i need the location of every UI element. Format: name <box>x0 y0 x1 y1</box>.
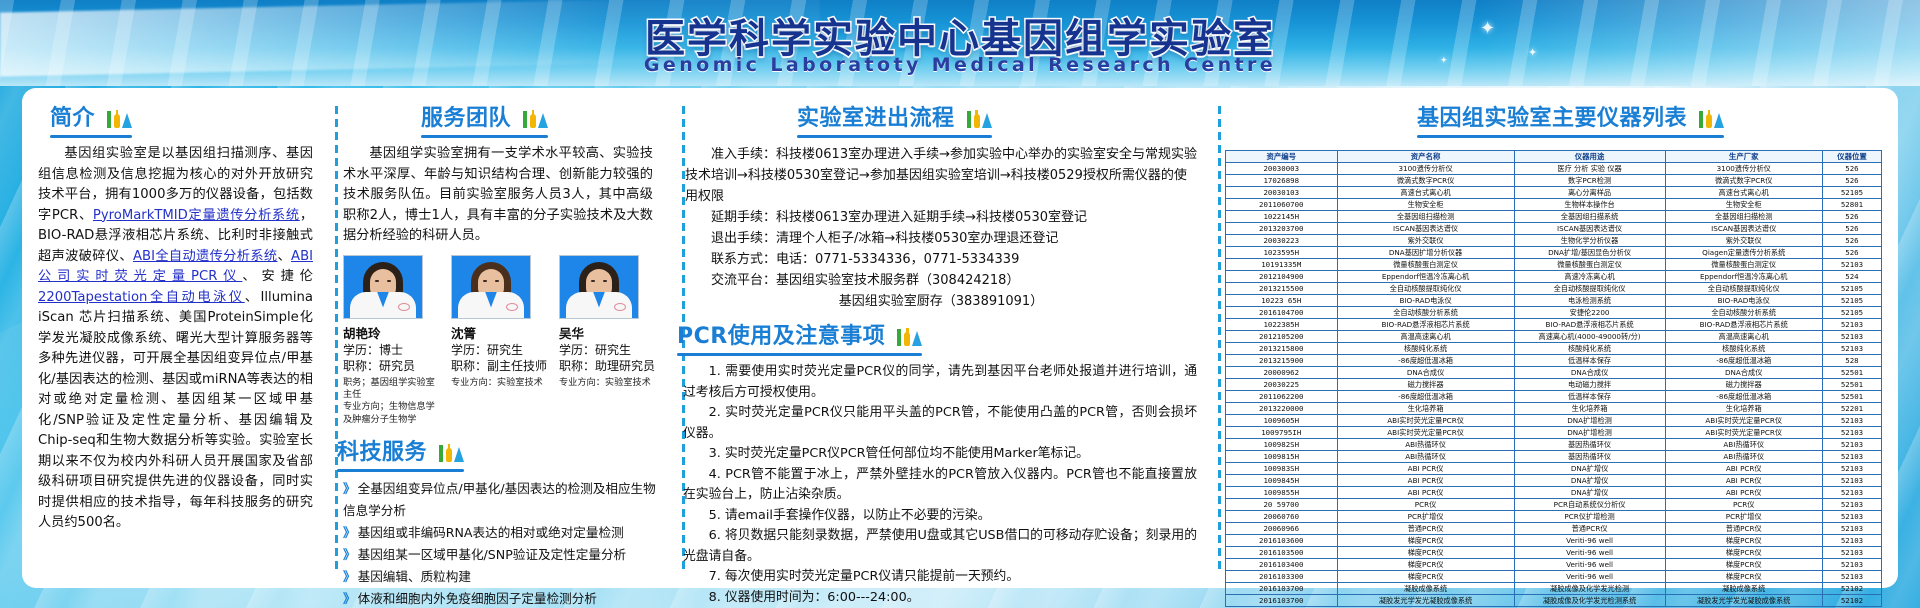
table-cell: -86度超低温冰箱 <box>1665 391 1822 403</box>
table-cell: 2016103500 <box>1226 547 1338 559</box>
table-cell: ABI PCR仪 <box>1337 463 1514 475</box>
chevron-right-icon: 》 <box>343 591 354 606</box>
table-cell: 52103 <box>1822 523 1881 535</box>
table-cell: 2012105200 <box>1226 331 1338 343</box>
avatar <box>343 255 423 319</box>
table-cell: DNA合成仪 <box>1665 367 1822 379</box>
table-cell: 52103 <box>1822 343 1881 355</box>
list-item: 1. 需要使用实时荧光定量PCR仪的同学，请先到基因平台老师处报道并进行培训，通… <box>683 362 1197 403</box>
table-cell: 微滴式数字PCR仪 <box>1665 175 1822 187</box>
table-cell: 核酸纯化系统 <box>1337 343 1514 355</box>
process-line: 退出手续：清理个人柜子/冰箱→科技楼0530室办理退还登记 <box>685 228 1197 249</box>
table-cell: 低温样本保存 <box>1514 355 1665 367</box>
table-cell: 梯度PCR仪 <box>1337 547 1514 559</box>
flask-chart-icon <box>966 108 992 128</box>
table-cell: 凝胶发光学发光凝胶成像系统 <box>1337 595 1514 607</box>
table-row: 100983SHABI PCR仪DNA扩增仪ABI PCR仪52103 <box>1226 463 1882 475</box>
table-cell: 52103 <box>1822 331 1881 343</box>
table-row: 20030103高速台式离心机离心分离样品高速台式离心机52105 <box>1226 187 1882 199</box>
table-cell: 52102 <box>1822 595 1881 607</box>
table-cell: 电泳检测系统 <box>1514 295 1665 307</box>
table-cell: 全基因组扫描检测 <box>1665 211 1822 223</box>
table-cell: 2013215800 <box>1226 343 1338 355</box>
pcr-notes-list: 1. 需要使用实时荧光定量PCR仪的同学，请先到基因平台老师处报道并进行培训，通… <box>677 362 1197 608</box>
list-item: 7. 每次使用实时荧光定量PCR仪请只能提前一天预约。 <box>683 567 1197 588</box>
table-cell: 52501 <box>1822 379 1881 391</box>
column-intro: 简介 基因组实验室是以基因组扫描测序、基因组信息检测及信息挖掘为核心的对外开放研… <box>22 88 327 588</box>
table-cell: 526 <box>1822 235 1881 247</box>
table-cell: 100983SH <box>1226 463 1338 475</box>
section-heading-services: 科技服务 <box>337 434 464 475</box>
table-cell: 52501 <box>1822 367 1881 379</box>
poster-root: ✦ ✦ ✦ 医学科学实验中心基因组学实验室 Genomic Laboratoty… <box>0 0 1920 608</box>
section-heading-intro: 简介 <box>50 100 132 141</box>
table-row: 1023595HDNA基因扩增分析仪器DNA扩增/基因显色分析仪Qiagen定量… <box>1226 247 1882 259</box>
table-cell: ABI实时荧光定量PCR仪 <box>1665 415 1822 427</box>
table-cell: 高速台式离心机 <box>1337 187 1514 199</box>
table-cell: 微滴式数字PCR仪 <box>1337 175 1514 187</box>
table-cell: 52105 <box>1822 187 1881 199</box>
table-cell: 52103 <box>1822 415 1881 427</box>
table-cell: 524 <box>1822 271 1881 283</box>
table-cell: 凝胶成像系统 <box>1665 583 1822 595</box>
table-cell: 52103 <box>1822 499 1881 511</box>
table-cell: 微量核酸蛋白测定仪 <box>1514 259 1665 271</box>
column-equipment: 基因组实验室主要仪器列表 资产编号 资产名称 <box>1207 88 1898 588</box>
process-line: 交流平台：基因组实验室技术服务群（308424218） <box>685 270 1197 291</box>
flask-chart-icon <box>522 108 548 128</box>
team-paragraph: 基因组学实验室拥有一支学术水平较高、实验技术水平深厚、年龄与知识结构合理、创新能… <box>343 144 653 247</box>
section-heading-pcr: PCR使用及注意事项 <box>677 318 922 359</box>
table-cell: 10191335M <box>1226 259 1338 271</box>
column-header-manufacturer: 生产厂家 <box>1665 151 1822 163</box>
table-cell: 1009605H <box>1226 415 1338 427</box>
table-cell: 2013203700 <box>1226 223 1338 235</box>
table-cell: 2016103400 <box>1226 559 1338 571</box>
table-cell: BIO-RAD悬浮液相芯片系统 <box>1514 319 1665 331</box>
table-cell: 生化培养箱 <box>1665 403 1822 415</box>
table-row: 20030223紫外交联仪生物化学分析仪器紫外交联仪526 <box>1226 235 1882 247</box>
table-cell: 20030003 <box>1226 163 1338 175</box>
column-header-asset-id: 资产编号 <box>1226 151 1338 163</box>
member-field: 专业方向：实验室技术 <box>451 377 549 389</box>
section-heading-team: 服务团队 <box>421 100 548 141</box>
table-cell: 高温高速离心机 <box>1665 331 1822 343</box>
column-header-usage: 仪器用途 <box>1514 151 1665 163</box>
table-cell: ABI PCR仪 <box>1665 475 1822 487</box>
equipment-table: 资产编号 资产名称 仪器用途 生产厂家 仪器位置 200300033100遗传分… <box>1225 150 1882 607</box>
table-cell: PCR仪 <box>1337 499 1514 511</box>
table-cell: PCR自动系统仪分析仪 <box>1514 499 1665 511</box>
table-cell: PCR扩增仪 <box>1665 511 1822 523</box>
table-cell: 全自动核酸分析系统 <box>1665 307 1822 319</box>
table-cell: 全自动核酸提取纯化仪 <box>1337 283 1514 295</box>
table-cell: DNA扩增仪 <box>1514 475 1665 487</box>
list-item: 3. 实时荧光定量PCR仪PCR管任何部位均不能使用Marker笔标记。 <box>683 444 1197 465</box>
table-cell: 20030223 <box>1226 235 1338 247</box>
table-cell: 52103 <box>1822 559 1881 571</box>
table-cell: 医疗 分析 实验 仪器 <box>1514 163 1665 175</box>
table-cell: 52501 <box>1822 391 1881 403</box>
table-cell: 52103 <box>1822 535 1881 547</box>
member-education: 学历：研究生 <box>559 342 657 358</box>
table-cell: 高速台式离心机 <box>1665 187 1822 199</box>
table-row: 2013215800核酸纯化系统核酸纯化系统核酸纯化系统52103 <box>1226 343 1882 355</box>
member-field: 专业方向；生物信息学及肿瘤分子生物学 <box>343 401 441 426</box>
table-cell: 普通PCR仪 <box>1665 523 1822 535</box>
table-cell: 10223 65H <box>1226 295 1338 307</box>
table-cell: 核酸纯化系统 <box>1514 343 1665 355</box>
table-cell: 生物安全柜 <box>1337 199 1514 211</box>
table-cell: 2016103700 <box>1226 595 1338 607</box>
table-cell: 2013220000 <box>1226 403 1338 415</box>
table-cell: 高速离心机(4000-49000转/分) <box>1514 331 1665 343</box>
table-row: 2016103700凝胶发光学发光凝胶成像系统凝胶成像及化学发光检测系统凝胶发光… <box>1226 595 1882 607</box>
list-item: 8. 仪器使用时间为：6:00---24:00。 <box>683 588 1197 608</box>
heading-underline <box>337 469 464 472</box>
process-line: 延期手续：科技楼0613室办理进入延期手续→科技楼0530室登记 <box>685 207 1197 228</box>
intro-paragraph: 基因组实验室是以基因组扫描测序、基因组信息检测及信息挖掘为核心的对外开放研究技术… <box>38 144 313 534</box>
table-cell: ABI热循环仪 <box>1665 439 1822 451</box>
table-cell: 高温高速离心机 <box>1337 331 1514 343</box>
table-cell: Eppendorf恒温冷冻离心机 <box>1665 271 1822 283</box>
table-row: 2016103300梯度PCR仪Veriti-96 well梯度PCR仪5210… <box>1226 571 1882 583</box>
table-cell: 2016104700 <box>1226 307 1338 319</box>
table-row: 1022385HBIO-RAD悬浮液相芯片系统BIO-RAD悬浮液相芯片系统BI… <box>1226 319 1882 331</box>
member-name: 沈箐 <box>451 323 549 342</box>
table-cell: Veriti-96 well <box>1514 535 1665 547</box>
equipment-table-wrapper: 资产编号 资产名称 仪器用途 生产厂家 仪器位置 200300033100遗传分… <box>1225 150 1882 607</box>
table-row: 10191335M微量核酸蛋白测定仪微量核酸蛋白测定仪微量核酸蛋白测定仪5210… <box>1226 259 1882 271</box>
table-cell: ABI PCR仪 <box>1665 487 1822 499</box>
table-cell: 生物化学分析仪器 <box>1514 235 1665 247</box>
flask-chart-icon <box>106 108 132 128</box>
table-row: 1009855HABI PCR仪DNA扩增仪ABI PCR仪52103 <box>1226 487 1882 499</box>
table-cell: 微量核酸蛋白测定仪 <box>1337 259 1514 271</box>
table-cell: -86度超低温冰箱 <box>1337 391 1514 403</box>
table-header-row: 资产编号 资产名称 仪器用途 生产厂家 仪器位置 <box>1226 151 1882 163</box>
table-cell: BIO-RAD电泳仪 <box>1337 295 1514 307</box>
table-cell: 2012104900 <box>1226 271 1338 283</box>
flask-chart-icon <box>438 442 464 462</box>
table-cell: 2013215500 <box>1226 283 1338 295</box>
table-cell: 52103 <box>1822 463 1881 475</box>
table-cell: 梯度PCR仪 <box>1665 571 1822 583</box>
table-cell: 52103 <box>1822 451 1881 463</box>
table-cell: -86度超低温冰箱 <box>1337 355 1514 367</box>
table-cell: 52102 <box>1822 583 1881 595</box>
table-cell: Veriti-96 well <box>1514 571 1665 583</box>
table-row: 2011060700生物安全柜生物样本操作台生物安全柜52801 <box>1226 199 1882 211</box>
chevron-right-icon: 》 <box>343 481 354 496</box>
table-cell: 梯度PCR仪 <box>1665 559 1822 571</box>
avatar <box>559 255 639 319</box>
table-row: 20000962DNA合成仪DNA合成仪DNA合成仪52501 <box>1226 367 1882 379</box>
table-cell: 52103 <box>1822 571 1881 583</box>
table-cell: 52201 <box>1822 403 1881 415</box>
inline-link[interactable]: PyroMarkTMID定量遗传分析系统 <box>93 208 300 223</box>
table-row: 1009795IHABI实时荧光定量PCR仪DNA扩增检测ABI实时荧光定量PC… <box>1226 427 1882 439</box>
table-cell: 52801 <box>1822 199 1881 211</box>
table-cell: 基因热循环仪 <box>1514 439 1665 451</box>
table-row: 20060760PCR扩增仪PCR仪扩增检测PCR扩增仪52103 <box>1226 511 1882 523</box>
table-cell: 离心分离样品 <box>1514 187 1665 199</box>
table-cell: ABI热循环仪 <box>1665 451 1822 463</box>
flask-chart-icon <box>896 326 922 346</box>
table-cell: 梯度PCR仪 <box>1337 559 1514 571</box>
team-member: 沈箐 学历：研究生 职称：副主任技师 专业方向：实验室技术 <box>451 255 549 427</box>
table-cell: ABI实时荧光定量PCR仪 <box>1665 427 1822 439</box>
table-cell: 生化培养箱 <box>1514 403 1665 415</box>
list-item: 4. PCR管不能置于冰上，严禁外壁挂水的PCR管放入仪器内。PCR管也不能直接… <box>683 465 1197 506</box>
table-cell: 凝胶发光学发光凝胶成像系统 <box>1665 595 1822 607</box>
table-row: 2016103500梯度PCR仪Veriti-96 well梯度PCR仪5210… <box>1226 547 1882 559</box>
member-title: 职称：助理研究员 <box>559 358 657 374</box>
table-row: 1022145H全基因组扫描检测全基因组扫描系统全基因组扫描检测526 <box>1226 211 1882 223</box>
chevron-right-icon: 》 <box>343 569 354 584</box>
table-cell: 52105 <box>1822 307 1881 319</box>
table-cell: 全自动核酸分析系统 <box>1337 307 1514 319</box>
member-name: 吴华 <box>559 323 657 342</box>
table-cell: 紫外交联仪 <box>1665 235 1822 247</box>
services-list: 》全基因组变异位点/甲基化/基因表达的检测及相应生物信息学分析 》基因组或非编码… <box>337 478 657 608</box>
table-cell: PCR扩增仪 <box>1337 511 1514 523</box>
table-cell: Eppendorf恒温冷冻离心机 <box>1337 271 1514 283</box>
table-cell: DNA扩增检测 <box>1514 415 1665 427</box>
table-cell: 20060966 <box>1226 523 1338 535</box>
table-cell: ISCAN基因表达谱仪 <box>1665 223 1822 235</box>
table-cell: 526 <box>1822 211 1881 223</box>
table-cell: ABI PCR仪 <box>1665 463 1822 475</box>
list-item: 》全基因组变异位点/甲基化/基因表达的检测及相应生物信息学分析 <box>343 478 657 522</box>
table-cell: 凝胶成像及化学发光检测 <box>1514 583 1665 595</box>
inline-link[interactable]: ABI全自动遗传分析系统 <box>133 249 277 264</box>
table-cell: DNA扩增/基因显色分析仪 <box>1514 247 1665 259</box>
table-cell: 20 59700 <box>1226 499 1338 511</box>
table-cell: 高速冷冻离心机 <box>1514 271 1665 283</box>
table-cell: 20060760 <box>1226 511 1338 523</box>
table-cell: 1009845H <box>1226 475 1338 487</box>
table-row: 1009605HABI实时荧光定量PCR仪DNA扩增检测ABI实时荧光定量PCR… <box>1226 415 1882 427</box>
table-cell: 基因热循环仪 <box>1514 451 1665 463</box>
table-row: 2016103400梯度PCR仪Veriti-96 well梯度PCR仪5210… <box>1226 559 1882 571</box>
heading-underline <box>421 135 548 138</box>
table-cell: ABI热循环仪 <box>1337 451 1514 463</box>
table-cell: ABI实时荧光定量PCR仪 <box>1337 415 1514 427</box>
table-cell: DNA基因扩增分析仪器 <box>1337 247 1514 259</box>
list-item: 》基因组或非编码RNA表达的相对或绝对定量检测 <box>343 522 657 544</box>
table-cell: 1009795IH <box>1226 427 1338 439</box>
table-cell: Veriti-96 well <box>1514 559 1665 571</box>
table-cell: 3100遗传分析仪 <box>1337 163 1514 175</box>
table-cell: Qiagen定量遗传分析系统 <box>1665 247 1822 259</box>
table-cell: 梯度PCR仪 <box>1665 535 1822 547</box>
table-cell: 安捷伦2200 <box>1514 307 1665 319</box>
table-cell: 全基因组扫描系统 <box>1514 211 1665 223</box>
table-cell: 凝胶成像及化学发光检测系统 <box>1514 595 1665 607</box>
list-item: 6. 将贝数据只能刻录数据，严禁使用U盘或其它USB借口的可移动存贮设备；刻录用… <box>683 526 1197 567</box>
table-cell: 紫外交联仪 <box>1337 235 1514 247</box>
table-cell: 全自动核酸提取纯化仪 <box>1514 283 1665 295</box>
member-field: 专业方向：实验室技术 <box>559 377 657 389</box>
table-cell: 1023595H <box>1226 247 1338 259</box>
table-row: 2013215900-86度超低温冰箱低温样本保存-86度超低温冰箱528 <box>1226 355 1882 367</box>
table-cell: 微量核酸蛋白测定仪 <box>1665 259 1822 271</box>
table-cell: 526 <box>1822 223 1881 235</box>
table-row: 2013215500全自动核酸提取纯化仪全自动核酸提取纯化仪全自动核酸提取纯化仪… <box>1226 283 1882 295</box>
equipment-table-body: 200300033100遗传分析仪医疗 分析 实验 仪器3100遗传分析仪526… <box>1226 163 1882 607</box>
table-cell: 1009855H <box>1226 487 1338 499</box>
table-row: 20030225磁力搅拌器电动磁力搅拌磁力搅拌器52501 <box>1226 379 1882 391</box>
table-cell: 52103 <box>1822 427 1881 439</box>
column-team: 服务团队 基因组学实验室拥有一支学术水平较高、实验技术水平深厚、年龄与知识结构合… <box>327 88 667 588</box>
table-row: 2016103600梯度PCR仪Veriti-96 well梯度PCR仪5210… <box>1226 535 1882 547</box>
table-row: 20 59700PCR仪PCR自动系统仪分析仪PCR仪52103 <box>1226 499 1882 511</box>
table-cell: 核酸纯化系统 <box>1665 343 1822 355</box>
column-header-asset-name: 资产名称 <box>1337 151 1514 163</box>
table-row: 2012104900Eppendorf恒温冷冻离心机高速冷冻离心机Eppendo… <box>1226 271 1882 283</box>
member-education: 学历：研究生 <box>451 342 549 358</box>
table-cell: BIO-RAD电泳仪 <box>1665 295 1822 307</box>
table-row: 2016103700凝胶成像系统凝胶成像及化学发光检测凝胶成像系统52102 <box>1226 583 1882 595</box>
table-row: 1009845HABI PCR仪DNA扩增仪ABI PCR仪52103 <box>1226 475 1882 487</box>
table-cell: 全自动核酸提取纯化仪 <box>1665 283 1822 295</box>
table-cell: DNA扩增检测 <box>1514 427 1665 439</box>
table-cell: 普通PCR仪 <box>1337 523 1514 535</box>
table-cell: 52103 <box>1822 259 1881 271</box>
table-row: 2013203700ISCAN基因表达谱仪ISCAN基因表达谱仪ISCAN基因表… <box>1226 223 1882 235</box>
table-cell: ABI PCR仪 <box>1337 475 1514 487</box>
table-cell: 梯度PCR仪 <box>1665 547 1822 559</box>
table-cell: DNA合成仪 <box>1337 367 1514 379</box>
member-name: 胡艳玲 <box>343 323 441 342</box>
table-row: 1009815HABI热循环仪基因热循环仪ABI热循环仪52103 <box>1226 451 1882 463</box>
heading-underline <box>797 135 992 138</box>
table-row: 200300033100遗传分析仪医疗 分析 实验 仪器3100遗传分析仪526 <box>1226 163 1882 175</box>
table-cell: 1009815H <box>1226 451 1338 463</box>
table-cell: 52103 <box>1822 439 1881 451</box>
table-cell: ABI热循环仪 <box>1337 439 1514 451</box>
table-cell: 低温样本保存 <box>1514 391 1665 403</box>
table-cell: Veriti-96 well <box>1514 547 1665 559</box>
avatar <box>451 255 531 319</box>
chevron-right-icon: 》 <box>343 525 354 540</box>
table-row: 2013220000生化培养箱生化培养箱生化培养箱52201 <box>1226 403 1882 415</box>
table-cell: 52103 <box>1822 475 1881 487</box>
list-item: 》基因编辑、质粒构建 <box>343 566 657 588</box>
table-cell: 2016103600 <box>1226 535 1338 547</box>
heading-underline <box>1417 135 1724 138</box>
table-cell: ABI PCR仪 <box>1337 487 1514 499</box>
table-cell: 生物样本操作台 <box>1514 199 1665 211</box>
page-subtitle: Genomic Laboratoty Medical Research Cent… <box>0 54 1920 76</box>
team-member: 吴华 学历：研究生 职称：助理研究员 专业方向：实验室技术 <box>559 255 657 427</box>
table-cell: PCR仪 <box>1665 499 1822 511</box>
list-item: 2. 实时荧光定量PCR仪只能用平头盖的PCR管，不能使用凸盖的PCR管，否则会… <box>683 403 1197 444</box>
member-education: 学历：博士 <box>343 342 441 358</box>
content-card: 简介 基因组实验室是以基因组扫描测序、基因组信息检测及信息挖掘为核心的对外开放研… <box>22 88 1898 588</box>
table-cell: 52103 <box>1822 547 1881 559</box>
table-row: 20060966普通PCR仪普通PCR仪普通PCR仪52103 <box>1226 523 1882 535</box>
table-cell: ABI实时荧光定量PCR仪 <box>1337 427 1514 439</box>
poster-header: ✦ ✦ ✦ 医学科学实验中心基因组学实验室 Genomic Laboratoty… <box>0 0 1920 86</box>
table-cell: 磁力搅拌器 <box>1337 379 1514 391</box>
table-cell: 2016103300 <box>1226 571 1338 583</box>
table-cell: DNA扩增仪 <box>1514 463 1665 475</box>
process-line: 基因组实验室厨存（383891091） <box>685 291 1197 312</box>
table-cell: 数字PCR检测 <box>1514 175 1665 187</box>
table-cell: 526 <box>1822 163 1881 175</box>
heading-underline <box>677 353 922 356</box>
team-members-row: 胡艳玲 学历：博士 职称：研究员 职务；基因组学实验室主任 专业方向；生物信息学… <box>343 255 657 427</box>
member-duty: 职务；基因组学实验室主任 <box>343 377 441 402</box>
section-title: 实验室进出流程 <box>797 106 955 131</box>
list-item: 》基因组某一区域甲基化/SNP验证及定性定量分析 <box>343 544 657 566</box>
table-cell: 52103 <box>1822 319 1881 331</box>
table-row: 100982SHABI热循环仪基因热循环仪ABI热循环仪52103 <box>1226 439 1882 451</box>
section-title: 基因组实验室主要仪器列表 <box>1417 106 1687 131</box>
table-cell: 20030103 <box>1226 187 1338 199</box>
table-cell: 52105 <box>1822 283 1881 295</box>
table-cell: PCR仪扩增检测 <box>1514 511 1665 523</box>
table-cell: 磁力搅拌器 <box>1665 379 1822 391</box>
table-cell: 梯度PCR仪 <box>1337 535 1514 547</box>
table-cell: 电动磁力搅拌 <box>1514 379 1665 391</box>
section-title: 服务团队 <box>421 106 511 131</box>
member-title: 职称：副主任技师 <box>451 358 549 374</box>
process-line: 联系方式：电话：0771-5334336，0771-5334339 <box>685 249 1197 270</box>
table-cell: DNA扩增仪 <box>1514 487 1665 499</box>
table-row: 2011062200-86度超低温冰箱低温样本保存-86度超低温冰箱52501 <box>1226 391 1882 403</box>
table-row: 10223 65HBIO-RAD电泳仪电泳检测系统BIO-RAD电泳仪52105 <box>1226 295 1882 307</box>
table-cell: 2011060700 <box>1226 199 1338 211</box>
table-cell: 生化培养箱 <box>1337 403 1514 415</box>
table-cell: DNA合成仪 <box>1514 367 1665 379</box>
table-cell: 526 <box>1822 247 1881 259</box>
table-cell: 2013215900 <box>1226 355 1338 367</box>
table-cell: 3100遗传分析仪 <box>1665 163 1822 175</box>
table-cell: BIO-RAD悬浮液相芯片系统 <box>1337 319 1514 331</box>
table-cell: 凝胶成像系统 <box>1337 583 1514 595</box>
table-cell: 52103 <box>1822 511 1881 523</box>
heading-underline <box>50 135 132 138</box>
inline-link[interactable]: 2200Tapestation全自动电泳仪 <box>38 290 245 305</box>
table-cell: 普通PCR仪 <box>1514 523 1665 535</box>
section-title: PCR使用及注意事项 <box>677 324 885 349</box>
table-cell: ISCAN基因表达谱仪 <box>1514 223 1665 235</box>
section-title: 科技服务 <box>337 440 427 465</box>
table-cell: 梯度PCR仪 <box>1337 571 1514 583</box>
table-cell: 17026898 <box>1226 175 1338 187</box>
table-cell: -86度超低温冰箱 <box>1665 355 1822 367</box>
flask-chart-icon <box>1698 108 1724 128</box>
chevron-right-icon: 》 <box>343 547 354 562</box>
team-member: 胡艳玲 学历：博士 职称：研究员 职务；基因组学实验室主任 专业方向；生物信息学… <box>343 255 441 427</box>
list-item: 5. 请email手套操作仪器，以防止不必要的污染。 <box>683 506 1197 527</box>
table-row: 2016104700全自动核酸分析系统安捷伦2200全自动核酸分析系统52105 <box>1226 307 1882 319</box>
table-cell: 528 <box>1822 355 1881 367</box>
table-cell: 52103 <box>1822 487 1881 499</box>
table-cell: ISCAN基因表达谱仪 <box>1337 223 1514 235</box>
table-cell: 100982SH <box>1226 439 1338 451</box>
section-title: 简介 <box>50 106 95 131</box>
process-line: 准入手续：科技楼0613室办理进入手续→参加实验中心举办的实验室安全与常规实验技… <box>685 144 1197 207</box>
table-cell: 52105 <box>1822 295 1881 307</box>
section-heading-equipment: 基因组实验室主要仪器列表 <box>1417 100 1724 141</box>
table-cell: BIO-RAD悬浮液相芯片系统 <box>1665 319 1822 331</box>
list-item: 》体液和细胞内外免疫细胞因子定量检测分析 <box>343 588 657 608</box>
table-cell: 全基因组扫描检测 <box>1337 211 1514 223</box>
